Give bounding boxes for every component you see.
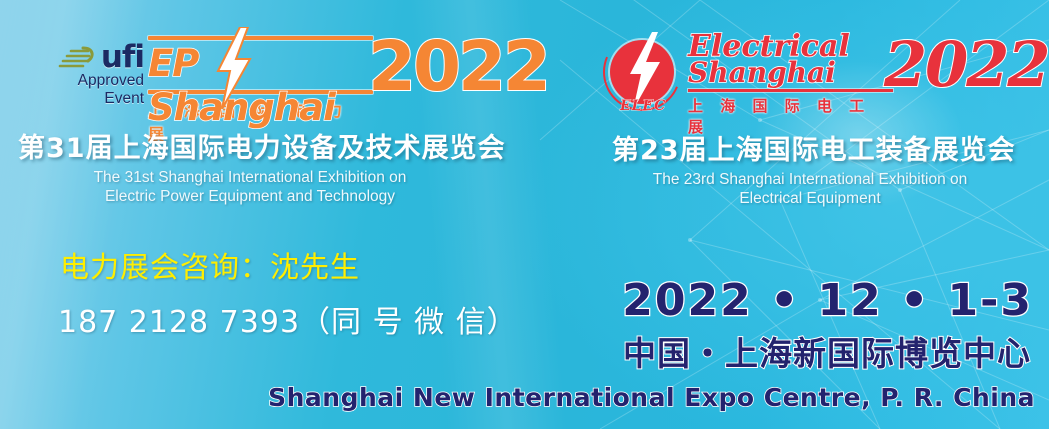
elec-year-2022: 2022 xyxy=(884,34,1049,96)
ufi-wordmark: ufi xyxy=(101,44,144,70)
left-english-line1: The 31st Shanghai International Exhibiti… xyxy=(40,168,460,187)
elec-label: ELEC xyxy=(620,98,666,114)
right-english-line2: Electrical Equipment xyxy=(600,189,1020,208)
ep-logo-wordmark-row: EP Shanghai xyxy=(148,43,373,87)
venue-chinese-name: 中国・上海新国际博览中心 xyxy=(623,336,1031,372)
ep-year-2022: 2022 xyxy=(368,33,548,102)
venue-english-name: Shanghai New International Expo Centre, … xyxy=(268,384,1035,412)
left-english-line2: Electric Power Equipment and Technology xyxy=(40,187,460,206)
ep-rule-top xyxy=(148,36,373,40)
exhibition-banner: ufi Approved Event EP Shanghai 上 海 国 际 电… xyxy=(0,0,1049,429)
event-date: 2022 • 12 • 1-3 xyxy=(622,279,1033,323)
shanghai-wordmark: Shanghai xyxy=(688,58,893,87)
left-chinese-headline: 第31届上海国际电力设备及技术展览会 xyxy=(18,126,506,165)
ufi-wing-icon xyxy=(57,44,99,70)
right-english-line1: The 23rd Shanghai International Exhibiti… xyxy=(600,170,1020,189)
ufi-event-label: Event xyxy=(26,91,144,108)
right-english-headline: The 23rd Shanghai International Exhibiti… xyxy=(600,170,1020,208)
ufi-approved-label: Approved xyxy=(26,73,144,90)
ep-shanghai-wordmark: EP Shanghai xyxy=(148,42,373,130)
elec-lightning-circle-icon: ELEC xyxy=(602,34,684,116)
contact-phone-number: 187 2128 7393（同 号 微 信） xyxy=(58,297,518,341)
electrical-shanghai-logo: Electrical Shanghai 上 海 国 际 电 工 展 xyxy=(688,32,893,137)
ufi-approved-event-badge: ufi Approved Event xyxy=(26,42,144,107)
contact-inquiry-line: 电力展会咨询：沈先生 xyxy=(60,244,360,286)
right-chinese-headline: 第23届上海国际电工装备展览会 xyxy=(612,128,1016,167)
elec-rule xyxy=(688,89,893,92)
left-english-headline: The 31st Shanghai International Exhibiti… xyxy=(40,168,460,206)
